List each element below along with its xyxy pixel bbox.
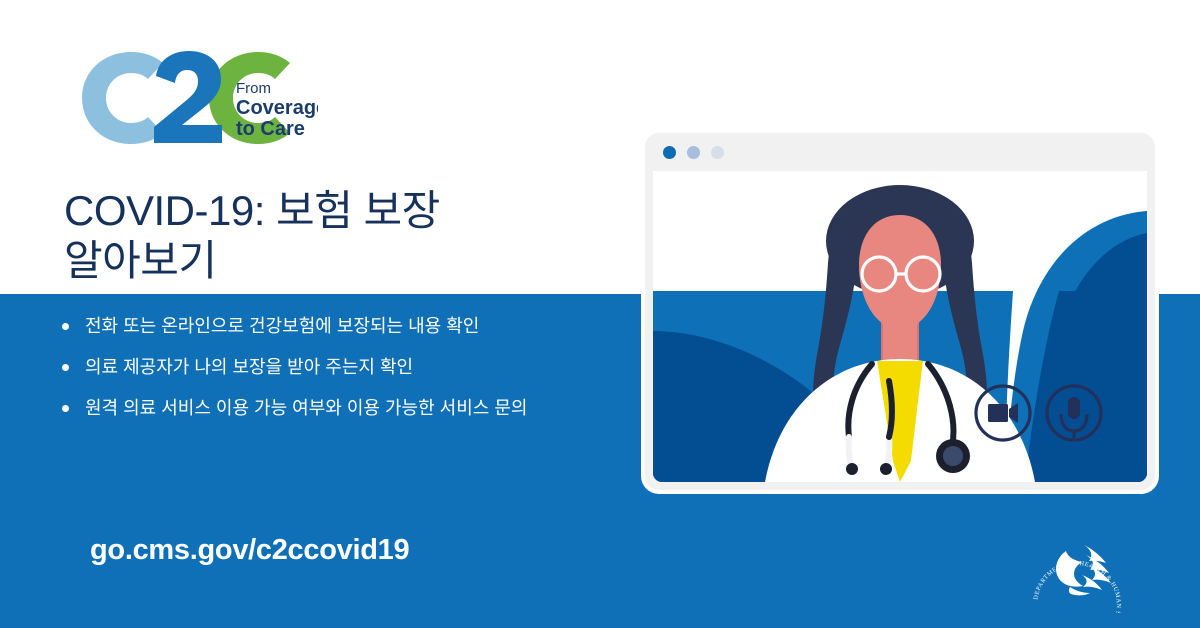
list-item: 전화 또는 온라인으로 건강보험에 보장되는 내용 확인 [62, 314, 652, 338]
logo-tagline-coverage: Coverage [236, 97, 318, 119]
video-camera-icon [988, 403, 1018, 423]
bullet-dot-icon [62, 405, 69, 412]
list-item-label: 의료 제공자가 나의 보장을 받아 주는지 확인 [85, 355, 413, 379]
stethoscope-tip-left [846, 463, 858, 475]
logo-tagline-from: From [236, 80, 271, 97]
hhs-eagle-mark [1056, 545, 1111, 595]
stethoscope-chestpiece-center [943, 446, 963, 466]
bullet-dot-icon [62, 323, 69, 330]
list-item: 원격 의료 서비스 이용 가능 여부와 이용 가능한 서비스 문의 [62, 396, 652, 420]
stethoscope-tip-right [880, 463, 892, 475]
list-item-label: 원격 의료 서비스 이용 가능 여부와 이용 가능한 서비스 문의 [85, 396, 527, 420]
logo-tagline-to-care: to Care [236, 118, 305, 140]
website-url[interactable]: go.cms.gov/c2ccovid19 [90, 534, 409, 567]
list-item-label: 전화 또는 온라인으로 건강보험에 보장되는 내용 확인 [85, 314, 479, 338]
window-dot-minimize-icon[interactable] [687, 146, 700, 159]
list-item: 의료 제공자가 나의 보장을 받아 주는지 확인 [62, 355, 652, 379]
logo-letter-c-light [82, 52, 163, 144]
c2c-logo: From Coverage to Care [78, 48, 318, 148]
benefit-list: 전화 또는 온라인으로 건강보험에 보장되는 내용 확인 의료 제공자가 나의 … [62, 314, 652, 437]
window-dot-maximize-icon[interactable] [711, 146, 724, 159]
hhs-seal: DEPARTMENT OF HEALTH & HUMAN SERVICES · … [1022, 513, 1132, 613]
bullet-dot-icon [62, 364, 69, 371]
window-dot-close-icon[interactable] [663, 146, 676, 159]
stethoscope-tube-inner [889, 381, 892, 437]
browser-viewport [653, 171, 1147, 482]
browser-titlebar [645, 133, 1155, 171]
logo-letter-two [154, 51, 222, 143]
browser-window [645, 133, 1155, 490]
page-title: COVID-19: 보험 보장 알아보기 [64, 186, 604, 286]
